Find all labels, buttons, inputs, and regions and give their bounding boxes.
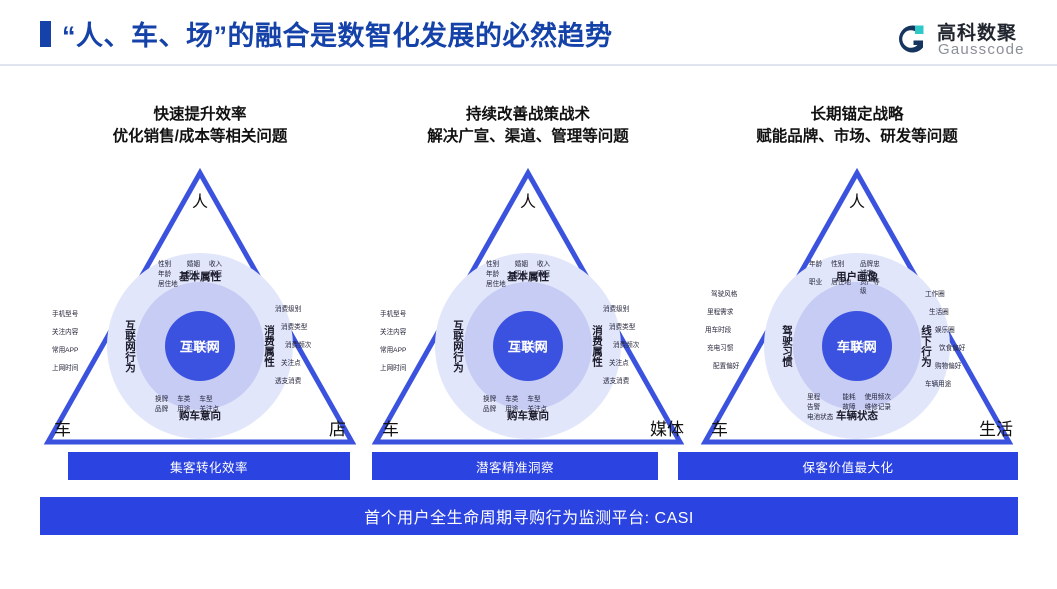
satellite-item: 娱乐圈 [935,326,955,336]
satellite-group-left: 手机型号 关注内容 常用APP 上网时间 [380,310,406,374]
panel-2: 人 车 生活 互联网 车联网 用户画像 车辆状态 驾驶习惯 线下行为 年龄 性别… [697,165,1017,450]
satellite-item: 关注内容 [380,328,406,338]
satellite-group-bottom: 里程 能耗 使用频次 告警 故障 维修记录 电池状态 [807,393,891,423]
satellite-item: 职业 [809,278,822,296]
satellite-item: 家庭 [537,270,550,280]
platform-footer-bar[interactable]: 首个用户全生命周期寻购行为监测平台: CASI [40,497,1018,535]
satellite-item: 手机型号 [52,310,78,320]
satellite-item: 车类 [505,395,518,405]
satellite-item: 居住地 [831,278,851,296]
satellite-group-right: 消费级别 消费类型 消费频次 关注点 透支消费 [613,305,639,387]
ring-label-right: 消费属性 [262,325,277,367]
satellite-item: 能耗 [842,393,855,403]
panel-1: 人 车 媒体 互联网 互联网 基本属性 购车意向 互联网行为 消费属性 性别 婚… [368,165,688,450]
satellite-item: 消费频次 [613,341,639,351]
title-bullet-icon [40,21,51,47]
satellite-item: 维修记录 [865,403,891,413]
column-heading-line1: 长期锚定战略 [697,104,1017,126]
satellite-item: 驾驶风格 [711,290,739,300]
satellite-group-left: 驾驶风格 里程需求 用车时段 充电习惯 配置偏好 [705,290,739,372]
satellite-item: 使用频次 [865,393,891,403]
column-heading-line2: 赋能品牌、市场、研发等问题 [697,126,1017,148]
satellite-group-bottom: 换牌 车类 车型 品牌 用途 关注点 [483,395,547,415]
triangle-bottom-left-label: 车 [382,415,399,440]
satellite-item: 车类 [177,395,190,405]
satellite-item: 常用APP [380,346,406,356]
satellite-item: 消费级别 [603,305,629,315]
satellite-item: 关注点 [527,405,547,415]
outcome-bar-2[interactable]: 保客价值最大化 [678,452,1018,480]
satellite-item: 透支消费 [603,377,629,387]
satellite-item: 故障 [842,403,855,413]
satellite-item: 居住地 [486,280,506,290]
column-heading-2: 长期锚定战略 赋能品牌、市场、研发等问题 [697,104,1017,148]
satellite-item: 透支消费 [275,377,301,387]
logo-latin-name: Gausscode [938,41,1025,58]
satellite-item: 家庭 [209,270,222,280]
satellite-item: 品牌 [483,405,496,415]
satellite-item: 消费类型 [281,323,307,333]
column-heading-1: 持续改善战策战术 解决广宣、渠道、管理等问题 [368,104,688,148]
triangle-bottom-left-label: 车 [54,415,71,440]
triangle-bottom-right-label: 媒体 [650,415,684,440]
satellite-item: 车型 [199,395,219,405]
satellite-item: 电池状态 [807,413,833,423]
satellite-group-bottom: 换牌 车类 车型 品牌 用途 关注点 [155,395,219,415]
ring-core-label: 互联网 [508,337,549,356]
slide-header: “人、车、场”的融合是数智化发展的必然趋势 高科数聚 Gausscode [0,0,1057,66]
satellite-item: 消费级别 [275,305,301,315]
satellite-item: 资产等级 [860,278,882,296]
satellite-item: 工作圈 [925,290,945,300]
satellite-item: 用途 [505,405,518,415]
ring-label-right: 消费属性 [590,325,605,367]
satellite-item: 品牌 [155,405,168,415]
column-heading-0: 快速提升效率 优化销售/成本等相关问题 [40,104,360,148]
ring-label-left: 互联网行为 [123,320,138,373]
triangle-bottom-left-label: 车 [711,415,728,440]
triangle-apex-label: 人 [520,188,536,212]
satellite-group-right: 工作圈 生活圈 娱乐圈 饮食偏好 购物偏好 车辆用途 [929,290,965,390]
ring-core-label: 互联网 [180,337,221,356]
satellite-item: 常用APP [52,346,78,356]
ring-core-label: 车联网 [837,337,878,356]
triangle-apex-label: 人 [849,188,865,212]
brand-logo: 高科数聚 Gausscode [893,18,1043,62]
column-heading-line1: 持续改善战策战术 [368,104,688,126]
satellite-group-top: 年龄 性别 品牌忠诚度 职业 居住地 资产等级 [809,260,882,296]
column-heading-line2: 优化销售/成本等相关问题 [40,126,360,148]
satellite-item: 年龄 [486,270,506,280]
satellite-item: 品牌忠诚度 [860,260,882,278]
satellite-item: 年龄 [158,270,178,280]
satellite-item: 性别 [486,260,506,270]
satellite-item: 关注点 [199,405,219,415]
triangle-apex-label: 人 [192,188,208,212]
satellite-item: 收入 [209,260,222,270]
satellite-item: 饮食偏好 [939,344,965,354]
satellite-item: 告警 [807,403,833,413]
page-title: “人、车、场”的融合是数智化发展的必然趋势 [62,14,613,53]
satellite-item: 性别 [831,260,851,278]
satellite-item: 车型 [527,395,547,405]
satellite-item: 换牌 [155,395,168,405]
satellite-item: 消费频次 [285,341,311,351]
satellite-item: 收入 [537,260,550,270]
satellite-item: 关注点 [609,359,629,369]
satellite-item: 配置偏好 [713,362,739,372]
satellite-item: 用车时段 [705,326,739,336]
satellite-item: 性别 [158,260,178,270]
satellite-group-right: 消费级别 消费类型 消费频次 关注点 透支消费 [285,305,311,387]
satellite-group-top: 性别 婚姻 收入 年龄 职业 家庭 居住地 [486,260,550,290]
satellite-item: 年龄 [809,260,822,278]
satellite-item: 职业 [187,270,200,280]
satellite-item: 换牌 [483,395,496,405]
column-heading-line2: 解决广宣、渠道、管理等问题 [368,126,688,148]
header-divider [0,64,1057,66]
satellite-item: 用途 [177,405,190,415]
triangle-bottom-right-label: 店 [329,415,346,440]
satellite-item: 里程 [807,393,833,403]
satellite-item: 充电习惯 [707,344,739,354]
gausscode-logo-icon [893,21,929,57]
satellite-item: 里程需求 [707,308,739,318]
satellite-item: 上网时间 [380,364,406,374]
ring-label-left: 互联网行为 [451,320,466,373]
satellite-item: 婚姻 [515,260,528,270]
satellite-item: 生活圈 [929,308,949,318]
satellite-item: 购物偏好 [935,362,961,372]
panel-0: 人 车 店 互联网 互联网 基本属性 购车意向 互联网行为 消费属性 性别 婚姻… [40,165,360,450]
outcome-bar-1[interactable]: 潜客精准洞察 [372,452,658,480]
satellite-item: 车辆用途 [925,380,951,390]
satellite-item: 居住地 [158,280,178,290]
triangle-bottom-right-label: 生活 [979,415,1013,440]
satellite-item: 消费类型 [609,323,635,333]
satellite-item: 手机型号 [380,310,406,320]
slide-root: “人、车、场”的融合是数智化发展的必然趋势 高科数聚 Gausscode 快速提… [0,0,1057,589]
satellite-item: 上网时间 [52,364,78,374]
satellite-item: 职业 [515,270,528,280]
ring-label-left: 驾驶习惯 [780,325,795,367]
outcome-bar-0[interactable]: 集客转化效率 [68,452,350,480]
column-heading-line1: 快速提升效率 [40,104,360,126]
satellite-group-left: 手机型号 关注内容 常用APP 上网时间 [52,310,78,374]
satellite-item: 关注点 [281,359,301,369]
satellite-item: 婚姻 [187,260,200,270]
satellite-group-top: 性别 婚姻 收入 年龄 职业 家庭 居住地 [158,260,222,290]
satellite-item: 关注内容 [52,328,78,338]
